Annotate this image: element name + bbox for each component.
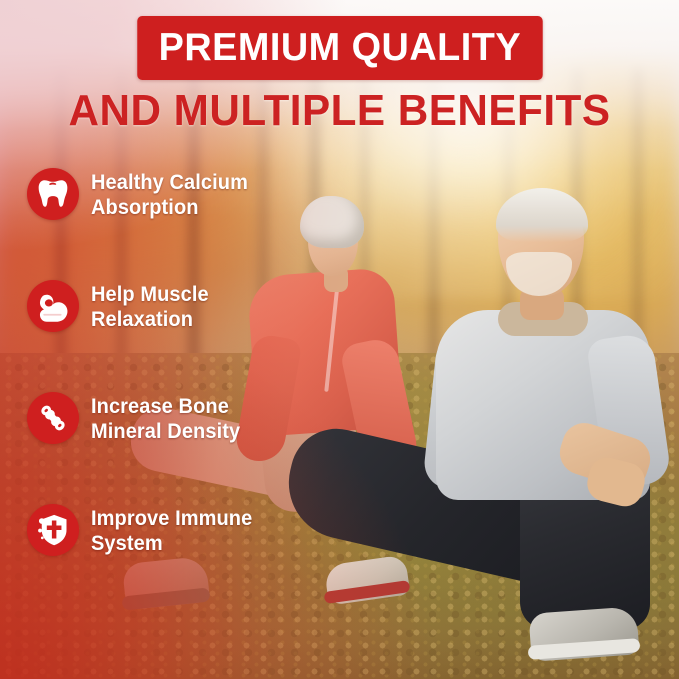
- benefit-item-improve-immune-system: Improve Immune System: [27, 504, 317, 616]
- benefit-label-4: Improve Immune System: [91, 506, 252, 555]
- benefits-list: Healthy Calcium Absorption Help Muscle R…: [27, 168, 317, 616]
- benefit-item-healthy-calcium-absorption: Healthy Calcium Absorption: [27, 168, 317, 280]
- benefit-label-3: Increase Bone Mineral Density: [91, 394, 240, 443]
- benefit-item-increase-bone-mineral-density: Increase Bone Mineral Density: [27, 392, 317, 504]
- benefit-label-2: Help Muscle Relaxation: [91, 282, 209, 331]
- headline-subtitle: AND MULTIPLE BENEFITS: [14, 89, 666, 133]
- bone-icon: [35, 400, 71, 436]
- headline-banner: PREMIUM QUALITY: [137, 16, 542, 80]
- benefit-badge-3: [27, 392, 79, 444]
- benefit-item-help-muscle-relaxation: Help Muscle Relaxation: [27, 280, 317, 392]
- benefit-badge-4: [27, 504, 79, 556]
- tooth-icon: [36, 177, 70, 211]
- benefit-label-1: Healthy Calcium Absorption: [91, 170, 248, 219]
- shield-plus-icon: [35, 512, 71, 548]
- promo-poster: PREMIUM QUALITY AND MULTIPLE BENEFITS He…: [0, 0, 679, 679]
- muscle-icon: [35, 288, 71, 324]
- benefit-badge-1: [27, 168, 79, 220]
- benefit-badge-2: [27, 280, 79, 332]
- headline-block: PREMIUM QUALITY AND MULTIPLE BENEFITS: [0, 16, 679, 133]
